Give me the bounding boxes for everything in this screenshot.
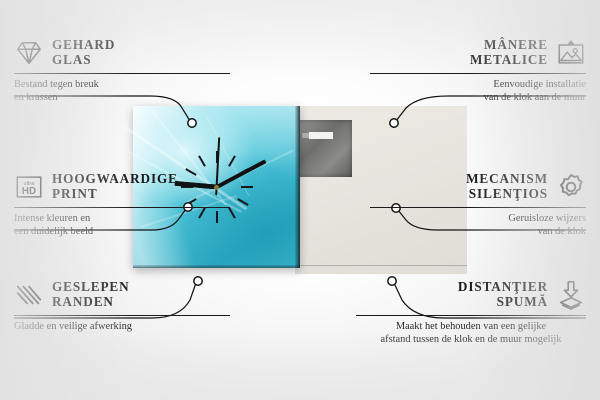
- divider: [14, 73, 230, 74]
- infographic-canvas: GEHARD GLAS Bestand tegen breuk en krass…: [0, 0, 600, 400]
- divider: [370, 73, 586, 74]
- feature-geslepen-randen: GESLEPEN RANDEN Gladde en veilige afwerk…: [14, 280, 230, 333]
- feature-manere-metalice: MÂNERE METALICE Eenvoudige installatie v…: [370, 38, 586, 104]
- metal-hanger-plate: [295, 120, 352, 177]
- divider: [370, 207, 586, 208]
- feature-description: Gladde en veilige afwerking: [14, 320, 230, 333]
- feature-title: GESLEPEN RANDEN: [52, 280, 130, 309]
- picture-frame-icon: [556, 38, 586, 68]
- divider: [356, 315, 586, 316]
- diagonal-lines-icon: [14, 280, 44, 310]
- feature-title: HOOGWAARDIGE PRINT: [52, 172, 178, 201]
- feature-distantier-spuma: DISTANŢIER SPUMĂ Maakt het behouden van …: [356, 280, 586, 346]
- gear-icon: [556, 172, 586, 202]
- divider: [14, 315, 230, 316]
- feature-description: Intense kleuren en een duidelijk beeld: [14, 212, 230, 238]
- feature-hoogwaardige-print: ultra HD HOOGWAARDIGE PRINT Intense kleu…: [14, 172, 230, 238]
- feature-description: Maakt het behouden van een gelijke afsta…: [356, 320, 586, 346]
- svg-text:HD: HD: [22, 186, 36, 197]
- feature-mecanism-silentios: MECANISM SILENŢIOS Geruisloze wijzers va…: [370, 172, 586, 238]
- feature-description: Eenvoudige installatie van de klok aan d…: [370, 78, 586, 104]
- foam-spacer-icon: [556, 280, 586, 310]
- ultra-hd-icon: ultra HD: [14, 172, 44, 202]
- feature-title: MECANISM SILENŢIOS: [466, 172, 548, 201]
- feature-gehard-glas: GEHARD GLAS Bestand tegen breuk en krass…: [14, 38, 230, 104]
- feature-description: Geruisloze wijzers van de klok: [370, 212, 586, 238]
- hanger-slot: [309, 132, 333, 139]
- feature-title: GEHARD GLAS: [52, 38, 115, 67]
- feature-title: MÂNERE METALICE: [470, 38, 548, 67]
- feature-title: DISTANŢIER SPUMĂ: [458, 280, 548, 309]
- diamond-icon: [14, 38, 44, 68]
- feature-description: Bestand tegen breuk en krassen: [14, 78, 230, 104]
- divider: [14, 207, 230, 208]
